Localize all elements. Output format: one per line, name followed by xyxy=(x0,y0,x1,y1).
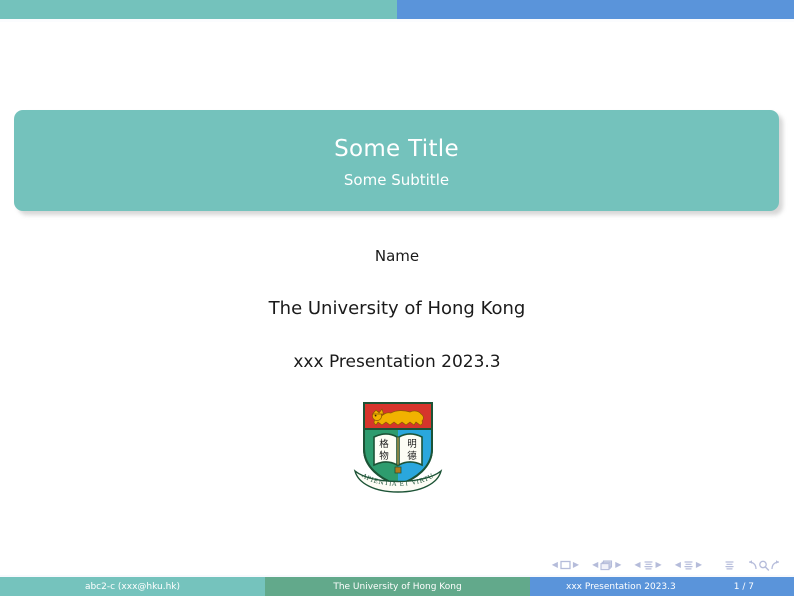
search-icon[interactable] xyxy=(758,560,770,571)
headbar-right-blue xyxy=(397,0,794,19)
page-subtitle: Some Subtitle xyxy=(344,172,449,190)
footer-author-text: abc2-c (xxx@hku.hk) xyxy=(85,582,180,592)
footer-date-text: xxx Presentation 2023.3 xyxy=(566,582,676,592)
prev-subsection-arrow-icon[interactable]: ◀ xyxy=(632,561,642,569)
nav-group-subsection[interactable]: ◀ ▶ xyxy=(632,560,663,571)
presentation-date: xxx Presentation 2023.3 xyxy=(0,352,794,372)
presentation-slide: Some Title Some Subtitle Name The Univer… xyxy=(0,0,794,596)
footer-institute-text: The University of Hong Kong xyxy=(333,582,461,592)
footer-page-number: 1 / 7 xyxy=(734,582,754,592)
prev-frame-arrow-icon[interactable]: ◀ xyxy=(590,561,600,569)
hku-crest-logo: 格 物 明 德 SAPIENTIA ET VIRTUS xyxy=(352,397,444,494)
appendix-icon[interactable] xyxy=(724,560,735,571)
author-name: Name xyxy=(0,247,794,265)
svg-text:明: 明 xyxy=(407,439,417,450)
title-metadata: Name The University of Hong Kong xxx Pre… xyxy=(0,247,794,372)
next-frame-arrow-icon[interactable]: ▶ xyxy=(613,561,623,569)
beamer-navigation-symbols[interactable]: ◀ ▶ ◀ ▶ ◀ xyxy=(550,557,782,573)
section-icon[interactable] xyxy=(683,560,694,571)
footer-institute-segment: The University of Hong Kong xyxy=(265,577,530,596)
frame-icon[interactable] xyxy=(600,560,613,571)
footer-date-page-segment: xxx Presentation 2023.3 1 / 7 xyxy=(530,577,794,596)
nav-group-slide[interactable]: ◀ ▶ xyxy=(550,560,581,570)
svg-text:格: 格 xyxy=(379,438,389,450)
headbar-left-teal xyxy=(0,0,397,19)
nav-group-section[interactable]: ◀ ▶ xyxy=(673,560,704,571)
svg-text:物: 物 xyxy=(379,450,389,462)
headbar-underline xyxy=(0,19,794,22)
footer-bar: abc2-c (xxx@hku.hk) The University of Ho… xyxy=(0,577,794,596)
next-slide-arrow-icon[interactable]: ▶ xyxy=(571,561,581,569)
subsection-icon[interactable] xyxy=(643,560,654,571)
forward-icon[interactable] xyxy=(770,560,782,571)
next-section-arrow-icon[interactable]: ▶ xyxy=(694,561,704,569)
title-block: Some Title Some Subtitle xyxy=(14,110,779,211)
nav-group-frame[interactable]: ◀ ▶ xyxy=(590,560,623,571)
page-title: Some Title xyxy=(334,136,459,163)
svg-text:德: 德 xyxy=(407,450,417,462)
institute-name: The University of Hong Kong xyxy=(0,298,794,320)
prev-section-arrow-icon[interactable]: ◀ xyxy=(673,561,683,569)
next-subsection-arrow-icon[interactable]: ▶ xyxy=(654,561,664,569)
prev-slide-arrow-icon[interactable]: ◀ xyxy=(550,561,560,569)
footer-author-segment: abc2-c (xxx@hku.hk) xyxy=(0,577,265,596)
back-icon[interactable] xyxy=(746,560,758,571)
slide-icon[interactable] xyxy=(560,560,571,570)
